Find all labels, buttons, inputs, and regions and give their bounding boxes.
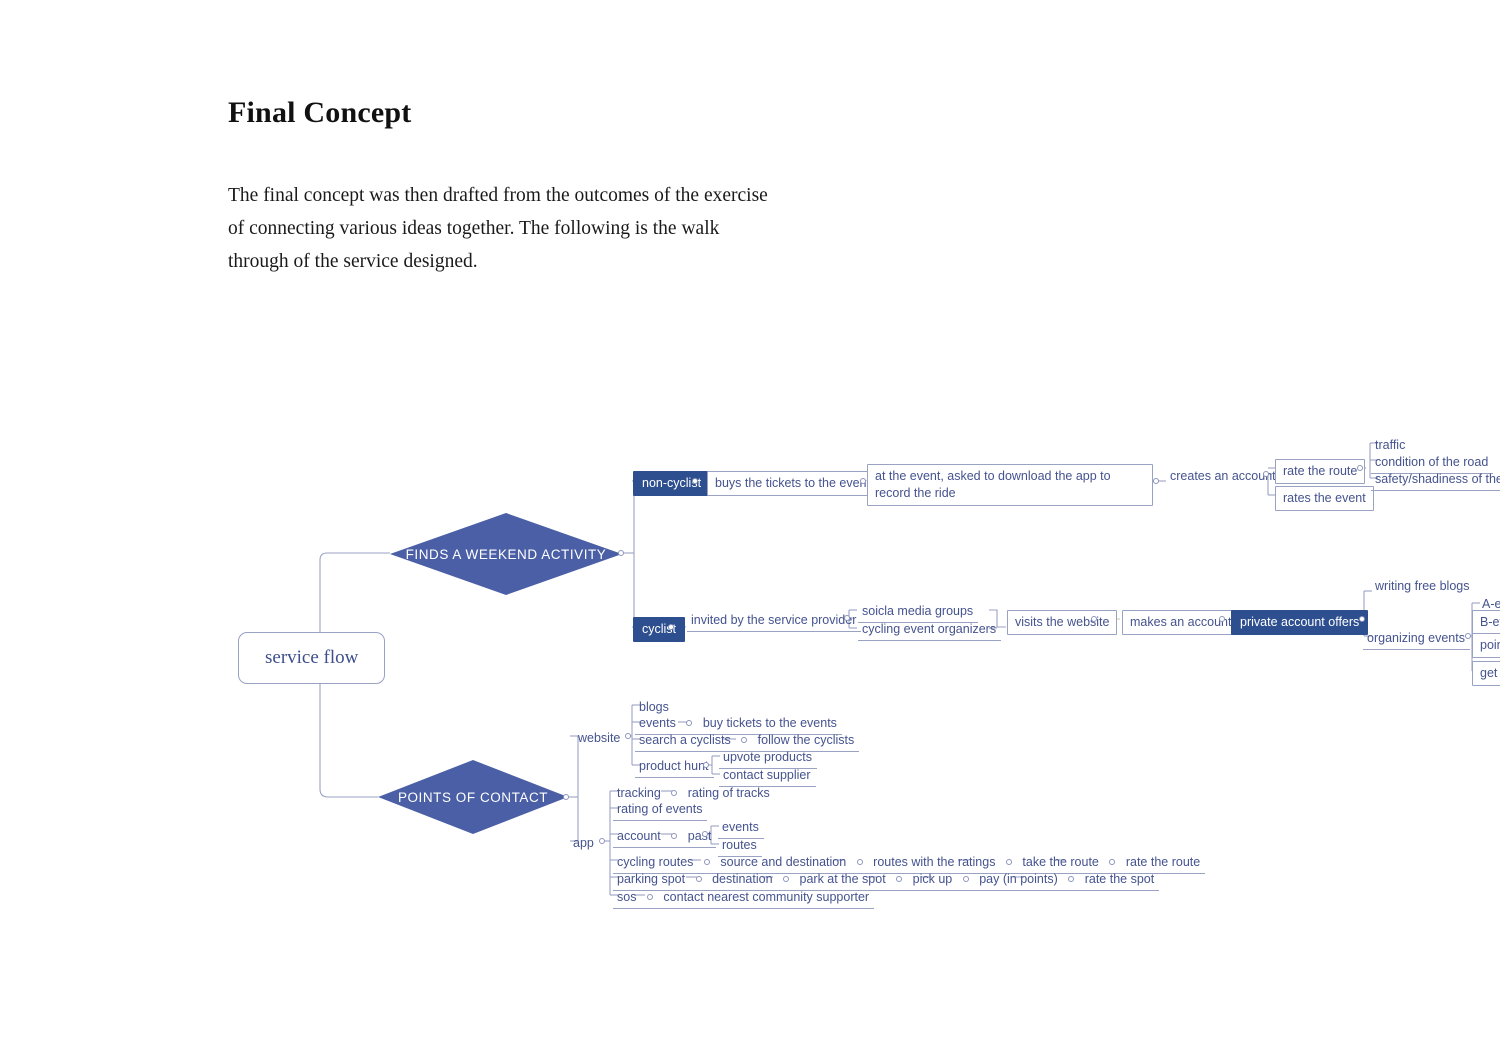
node-app-cycling-routes-step-1: source and destination (720, 855, 846, 869)
node-buys-tickets[interactable]: buys the tickets to the event (707, 471, 878, 496)
node-app-account-step: past (688, 829, 712, 843)
node-app-parking-step-3: pick up (913, 872, 953, 886)
node-visits-the-website[interactable]: visits the website (1007, 610, 1117, 635)
connector-dot-icon (896, 876, 902, 882)
connector-dot-icon (618, 550, 624, 556)
connector-dot-icon (647, 894, 653, 900)
node-app-parking-spot-label: parking spot (617, 872, 685, 886)
connector-dot-icon (1219, 616, 1225, 622)
node-offer-writing-free-blogs[interactable]: writing free blogs (1371, 576, 1475, 597)
node-rates-the-event[interactable]: rates the event (1275, 486, 1374, 511)
node-app[interactable]: app (569, 833, 599, 854)
connector-dot-icon (563, 794, 569, 800)
node-app-sos-step: contact nearest community supporter (663, 890, 869, 904)
connector-dot-icon (599, 838, 605, 844)
node-app-sos[interactable]: sos contact nearest community supporter (613, 887, 874, 909)
node-app-tracking-label: tracking (617, 786, 661, 800)
node-invited-by-service-provider[interactable]: invited by the service provider (687, 610, 861, 632)
node-app-rating-of-events[interactable]: rating of events (613, 799, 707, 821)
node-website-search-step: follow the cyclists (758, 733, 855, 747)
connector-dot-icon (702, 831, 708, 837)
connector-dot-icon (704, 859, 710, 865)
connector-dot-icon (741, 737, 747, 743)
connector-dot-icon (1091, 616, 1097, 622)
node-app-parking-step-1: destination (712, 872, 772, 886)
node-service-flow[interactable]: service flow (238, 632, 385, 684)
node-website-product-hunt[interactable]: product hunt (635, 756, 714, 778)
node-makes-an-account[interactable]: makes an account (1122, 610, 1239, 635)
node-factor-safety-shadiness[interactable]: safety/shadiness of the ro (1371, 469, 1500, 491)
node-offer-organizing-events[interactable]: organizing events (1363, 628, 1470, 650)
connector-dot-icon (857, 859, 863, 865)
node-app-sos-label: sos (617, 890, 636, 904)
node-cyclist[interactable]: cyclist (633, 617, 685, 642)
connector-dot-icon (1109, 859, 1115, 865)
node-private-account-offers[interactable]: private account offers (1231, 610, 1368, 635)
node-offer-get-paid[interactable]: get p (1472, 661, 1500, 686)
connector-dot-icon (860, 478, 866, 484)
diamond-finds-a-weekend-activity[interactable]: FINDS A WEEKEND ACTIVITY (390, 513, 622, 595)
connector-dot-icon (1263, 471, 1269, 477)
diamond-points-of-contact[interactable]: POINTS OF CONTACT (378, 760, 568, 834)
connector-dot-icon (692, 478, 698, 484)
node-app-account-label: account (617, 829, 661, 843)
node-website-events-label: events (639, 716, 676, 730)
node-app-cycling-routes-step-2: routes with the ratings (873, 855, 995, 869)
node-rate-the-route[interactable]: rate the route (1275, 459, 1365, 484)
node-offer-event-b[interactable]: B-ev (1472, 610, 1500, 635)
connector-dot-icon (703, 762, 709, 768)
node-app-tracking-step: rating of tracks (688, 786, 770, 800)
connector-dot-icon (1465, 633, 1471, 639)
node-website[interactable]: website (574, 728, 625, 749)
node-app-parking-step-5: rate the spot (1085, 872, 1155, 886)
connector-dot-icon (1359, 616, 1365, 622)
node-at-the-event[interactable]: at the event, asked to download the app … (867, 464, 1153, 506)
connector-dot-icon (963, 876, 969, 882)
node-app-cycling-routes-step-3: take the route (1022, 855, 1098, 869)
mindmap-diagram: service flow FINDS A WEEKEND ACTIVITY PO… (0, 0, 1500, 1061)
connector-dot-icon (625, 733, 631, 739)
connector-dot-icon (671, 833, 677, 839)
connector-dot-icon (686, 720, 692, 726)
connector-dot-icon (1153, 478, 1159, 484)
node-app-parking-step-2: park at the spot (800, 872, 886, 886)
node-website-events-step: buy tickets to the events (703, 716, 837, 730)
node-invite-source-event-organizers[interactable]: cycling event organizers (858, 619, 1001, 641)
connector-dot-icon (1006, 859, 1012, 865)
node-app-cycling-routes-label: cycling routes (617, 855, 693, 869)
node-app-cycling-routes-step-4: rate the route (1126, 855, 1200, 869)
connector-dot-icon (668, 624, 674, 630)
node-offer-points[interactable]: point (1472, 633, 1500, 658)
node-website-search-label: search a cyclists (639, 733, 731, 747)
connector-dot-icon (696, 876, 702, 882)
connector-dot-icon (783, 876, 789, 882)
connector-dot-icon (671, 790, 677, 796)
node-app-account[interactable]: account past (613, 826, 716, 848)
connector-dot-icon (844, 615, 850, 621)
node-app-parking-step-4: pay (in points) (979, 872, 1058, 886)
connector-dot-icon (1068, 876, 1074, 882)
connector-dot-icon (1357, 465, 1363, 471)
node-non-cyclist[interactable]: non-cyclist (633, 471, 710, 496)
